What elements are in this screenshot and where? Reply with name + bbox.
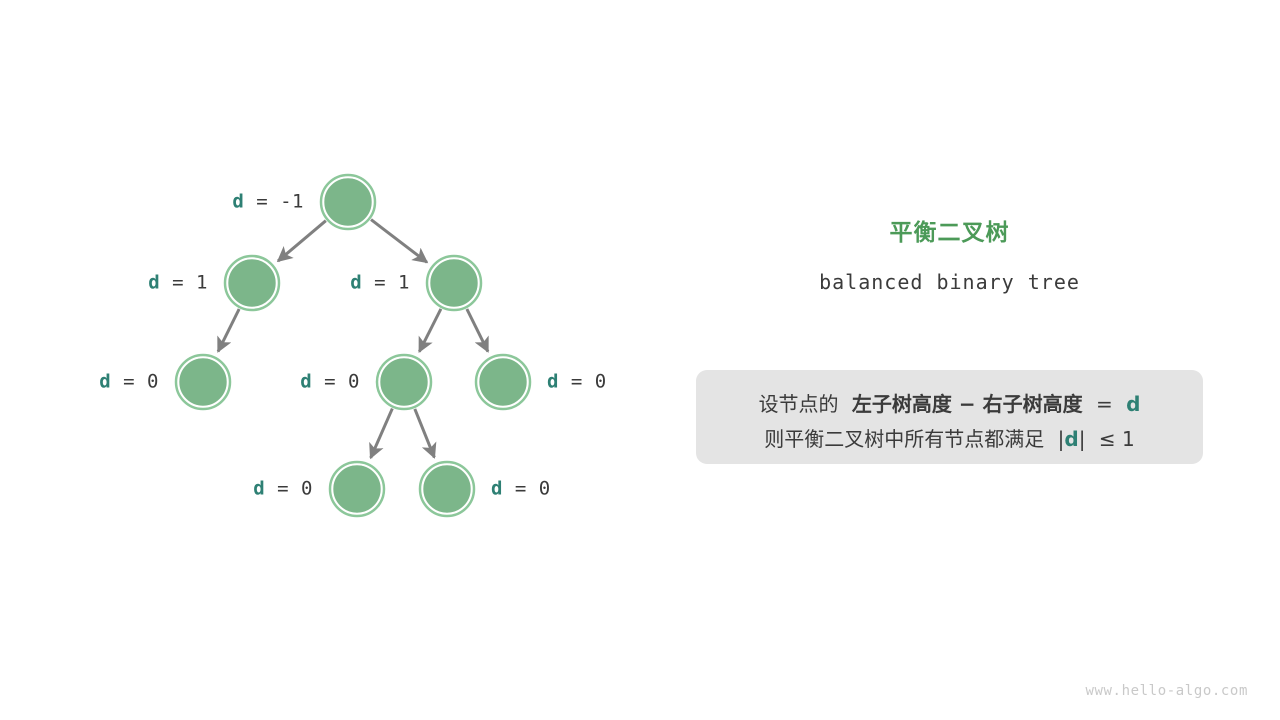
node-balance-label: d = 0 (547, 373, 607, 392)
tree-edge (371, 409, 393, 458)
condition-relation: ≤ 1 (1099, 427, 1135, 451)
label-symbol-d: d (547, 371, 559, 393)
label-symbol-d: d (253, 478, 265, 500)
node-balance-label: d = 1 (148, 274, 208, 293)
condition-symbol-d: d (1064, 427, 1078, 451)
label-value: = 1 (362, 272, 410, 294)
condition-prefix: 则平衡二叉树中所有节点都满足 (764, 427, 1044, 451)
tree-graphic (0, 0, 1280, 720)
panel-title: 平衡二叉树 (696, 222, 1203, 245)
label-value: = 0 (111, 371, 159, 393)
label-symbol-d: d (350, 272, 362, 294)
tree-edge (218, 309, 239, 352)
abs-bar-close: | (1079, 427, 1086, 451)
watermark: www.hello-algo.com (1085, 684, 1248, 698)
tree-nodes (176, 175, 530, 516)
panel-subtitle: balanced binary tree (696, 245, 1203, 292)
tree-edge (419, 309, 441, 352)
tree-edge (371, 220, 427, 263)
label-value: = -1 (244, 191, 304, 213)
node-balance-label: d = -1 (232, 193, 304, 212)
definition-line-2: 则平衡二叉树中所有节点都满足 |d| ≤ 1 (696, 429, 1203, 449)
node-balance-label: d = 0 (253, 480, 313, 499)
label-value: = 0 (312, 371, 360, 393)
tree-edge (415, 409, 435, 458)
info-panel: 平衡二叉树 balanced binary tree (696, 222, 1203, 292)
node-balance-label: d = 0 (99, 373, 159, 392)
definition-bold-term: 左子树高度 − 右子树高度 (852, 392, 1083, 416)
tree-node (427, 256, 481, 310)
definition-equals: = (1096, 392, 1113, 416)
tree-node (420, 462, 474, 516)
label-value: = 0 (559, 371, 607, 393)
tree-node (225, 256, 279, 310)
label-value: = 0 (265, 478, 313, 500)
tree-node (176, 355, 230, 409)
tree-node (330, 462, 384, 516)
diagram-canvas: d = -1d = 1d = 1d = 0d = 0d = 0d = 0d = … (0, 0, 1280, 720)
tree-edge (467, 309, 488, 352)
tree-node (377, 355, 431, 409)
label-symbol-d: d (300, 371, 312, 393)
node-balance-label: d = 0 (491, 480, 551, 499)
definition-line-1: 设节点的 左子树高度 − 右子树高度 = d (696, 394, 1203, 414)
node-balance-label: d = 1 (350, 274, 410, 293)
label-value: = 0 (503, 478, 551, 500)
tree-edges (218, 220, 488, 458)
definition-prefix: 设节点的 (759, 392, 839, 416)
label-symbol-d: d (99, 371, 111, 393)
node-balance-label: d = 0 (300, 373, 360, 392)
label-symbol-d: d (232, 191, 244, 213)
label-value: = 1 (160, 272, 208, 294)
definition-symbol-d: d (1126, 392, 1140, 416)
label-symbol-d: d (148, 272, 160, 294)
definition-box: 设节点的 左子树高度 − 右子树高度 = d 则平衡二叉树中所有节点都满足 |d… (696, 370, 1203, 464)
tree-edge (278, 221, 326, 261)
tree-node (476, 355, 530, 409)
label-symbol-d: d (491, 478, 503, 500)
tree-node (321, 175, 375, 229)
